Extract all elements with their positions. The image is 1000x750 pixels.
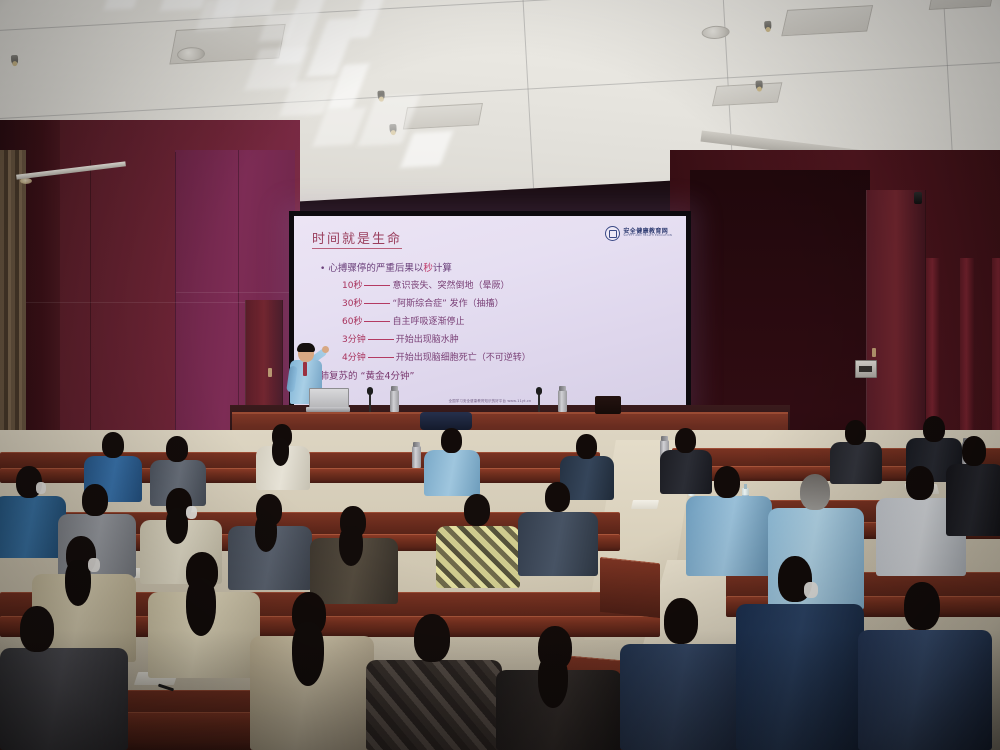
ceiling-light-panel bbox=[712, 82, 783, 106]
presenter-hair bbox=[297, 343, 315, 352]
slide-line-time: 3分钟 bbox=[342, 335, 366, 345]
person-ponytail bbox=[272, 438, 289, 466]
slide-line-text: 意识丧失、突然倒地（晕厥） bbox=[392, 281, 509, 291]
person-head bbox=[414, 614, 450, 662]
slide-line-time: 60秒 bbox=[342, 317, 362, 327]
person-head bbox=[664, 598, 698, 644]
audience-member bbox=[310, 506, 398, 604]
slide-line-time: 4分钟 bbox=[342, 353, 366, 363]
person-head bbox=[714, 466, 740, 498]
person-torso bbox=[620, 644, 752, 750]
person-head bbox=[800, 474, 830, 510]
slide-title: 时间就是生命 bbox=[312, 228, 402, 249]
person-ponytail bbox=[339, 526, 363, 566]
slide-line-text: 自主呼吸逐渐停止 bbox=[392, 317, 464, 327]
slide-footer: 全国学习安全健康教育知识的好平台 www.11yt.cn bbox=[294, 398, 686, 403]
laptop-screen bbox=[309, 388, 349, 409]
audience-member bbox=[496, 626, 622, 750]
person-ponytail bbox=[166, 508, 188, 544]
person-head bbox=[906, 466, 934, 500]
vacuum-flask[interactable] bbox=[558, 390, 567, 412]
slide-line-text: 开始出现脑水肿 bbox=[396, 335, 459, 345]
dash-icon bbox=[368, 357, 394, 358]
person-head bbox=[545, 482, 570, 512]
logo-subtitle: SAFETY AND HEALTH EDUCATION bbox=[623, 235, 672, 238]
audience-member bbox=[620, 598, 752, 750]
slide-line: 4分钟开始出现脑细胞死亡（不可逆转） bbox=[342, 350, 531, 363]
wall-control-panel[interactable] bbox=[855, 360, 877, 378]
person-torso bbox=[946, 464, 1000, 536]
presentation-slide: 时间就是生命 安全健康教育网 SAFETY AND HEALTH EDUCATI… bbox=[294, 216, 686, 407]
person-head bbox=[675, 428, 696, 453]
person-torso bbox=[436, 526, 520, 588]
person-ponytail bbox=[255, 514, 277, 552]
person-torso bbox=[0, 648, 128, 750]
person-head bbox=[441, 428, 462, 453]
slide-line: 30秒“阿斯综合症” 发作（抽搐） bbox=[342, 296, 504, 309]
person-head bbox=[845, 420, 866, 445]
audience-member bbox=[250, 592, 374, 750]
notepad bbox=[631, 500, 659, 509]
person-torso bbox=[858, 630, 992, 750]
person-head bbox=[904, 582, 940, 630]
slide-line: 10秒意识丧失、突然倒地（晕厥） bbox=[342, 278, 509, 291]
vacuum-flask[interactable] bbox=[390, 390, 399, 412]
audience-member bbox=[946, 436, 1000, 536]
person-ponytail bbox=[538, 654, 568, 708]
sprinkler-icon bbox=[755, 80, 763, 90]
audience-member bbox=[736, 556, 864, 750]
slide-line-text: 开始出现脑细胞死亡（不可逆转） bbox=[396, 353, 531, 363]
sprinkler-icon bbox=[764, 21, 772, 31]
person-head bbox=[102, 432, 124, 458]
podium-monitor bbox=[595, 396, 621, 414]
projection-screen-frame: 时间就是生命 安全健康教育网 SAFETY AND HEALTH EDUCATI… bbox=[289, 211, 691, 411]
person-torso bbox=[424, 450, 480, 496]
lecture-room-photo: 时间就是生命 安全健康教育网 SAFETY AND HEALTH EDUCATI… bbox=[0, 0, 1000, 750]
slide-line: 3分钟开始出现脑水肿 bbox=[342, 332, 459, 345]
bullet-dot-icon: • bbox=[320, 264, 325, 274]
person-head bbox=[82, 484, 108, 516]
slide-bullet-main: •心搏骤停的严重后果以秒计算 bbox=[320, 260, 452, 274]
microphone bbox=[369, 392, 371, 412]
face-mask bbox=[804, 582, 818, 598]
security-camera-icon bbox=[914, 192, 922, 204]
person-torso bbox=[518, 512, 598, 576]
door-handle[interactable] bbox=[872, 348, 876, 357]
person-head bbox=[923, 416, 945, 442]
presenter-hand bbox=[322, 346, 329, 353]
person-ponytail bbox=[186, 578, 216, 636]
dash-icon bbox=[364, 321, 390, 322]
organization-logo: 安全健康教育网 SAFETY AND HEALTH EDUCATION bbox=[605, 226, 672, 241]
face-mask bbox=[186, 506, 197, 519]
person-torso bbox=[366, 660, 502, 750]
audience-member bbox=[148, 552, 260, 678]
person-head bbox=[962, 436, 986, 466]
person-head bbox=[464, 494, 490, 526]
bullet-prefix: 心搏骤停的严重后果以 bbox=[328, 263, 423, 274]
face-mask bbox=[88, 558, 100, 572]
audience-member bbox=[518, 482, 598, 576]
person-torso bbox=[736, 604, 864, 750]
slide-line-text: “阿斯综合症” 发作（抽搐） bbox=[392, 299, 503, 309]
shield-emblem-icon bbox=[605, 226, 620, 241]
door-handle[interactable] bbox=[268, 368, 272, 377]
person-head bbox=[576, 434, 597, 459]
audience-member bbox=[858, 582, 992, 750]
laptop[interactable] bbox=[306, 388, 350, 412]
ceiling-light-panel bbox=[781, 5, 873, 36]
audience-member bbox=[0, 606, 128, 750]
vacuum-flask[interactable] bbox=[412, 446, 421, 468]
dash-icon bbox=[364, 303, 390, 304]
audience-member bbox=[366, 614, 502, 750]
bullet-suffix: 计算 bbox=[433, 263, 452, 274]
audience-member bbox=[436, 494, 520, 588]
face-mask bbox=[36, 482, 46, 494]
projection-screen: 时间就是生命 安全健康教育网 SAFETY AND HEALTH EDUCATI… bbox=[294, 216, 686, 407]
slide-line: 60秒自主呼吸逐渐停止 bbox=[342, 314, 464, 327]
ceiling-light-panel bbox=[929, 0, 996, 10]
person-head bbox=[166, 436, 188, 462]
sprinkler-icon bbox=[11, 55, 19, 65]
person-head bbox=[20, 606, 54, 652]
bullet-highlight: 秒 bbox=[423, 263, 433, 274]
dash-icon bbox=[364, 285, 390, 286]
slide-line-time: 10秒 bbox=[342, 281, 362, 291]
audience-member bbox=[256, 424, 310, 490]
audience-member bbox=[424, 428, 480, 496]
person-ponytail bbox=[292, 622, 324, 686]
microphone bbox=[538, 392, 540, 412]
slide-line-time: 30秒 bbox=[342, 299, 362, 309]
dash-icon bbox=[368, 339, 394, 340]
presenter-tie bbox=[303, 362, 307, 376]
